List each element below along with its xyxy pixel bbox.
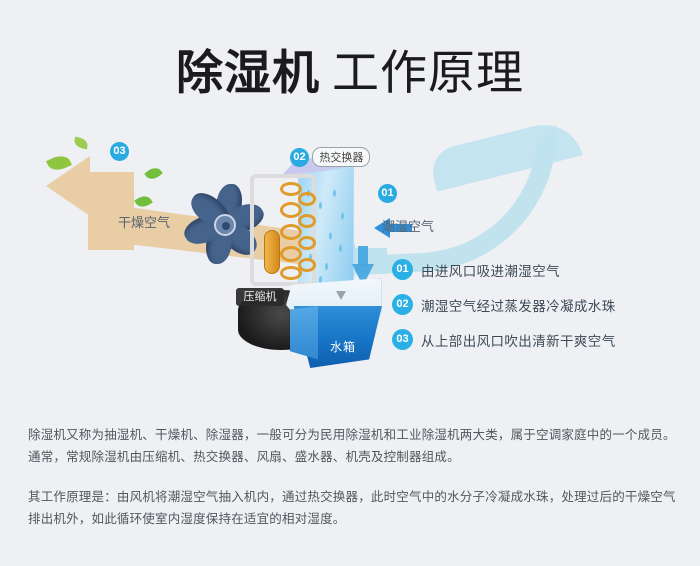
humid-air-label: 潮湿空气 <box>382 216 434 235</box>
heat-exchanger-callout: 02 热交换器 <box>290 147 370 167</box>
refrigerant-circuit <box>250 174 316 286</box>
page-title: 除湿机工作原理 <box>0 34 700 103</box>
title-secondary: 工作原理 <box>332 46 524 99</box>
dry-air-label: 干燥空气 <box>118 212 170 231</box>
fan-hub <box>214 214 236 236</box>
legend-text-03: 从上部出风口吹出清新干爽空气 <box>421 330 616 350</box>
legend-text-02: 潮湿空气经过蒸发器冷凝成水珠 <box>421 295 616 315</box>
description-paragraph-1: 除湿机又称为抽湿机、干燥机、除湿器，一般可分为民用除湿机和工业除湿机两大类，属于… <box>28 424 676 468</box>
leaf-icon <box>134 193 152 210</box>
compressor-label: 压缩机 <box>236 288 284 306</box>
dry-air-badge: 03 <box>110 142 129 161</box>
list-item: 01 由进风口吸进潮湿空气 <box>392 252 692 287</box>
compressor-cylinder <box>264 230 280 274</box>
water-tank-label: 水箱 <box>330 338 356 355</box>
legend-list: 01 由进风口吸进潮湿空气 02 潮湿空气经过蒸发器冷凝成水珠 03 从上部出风… <box>392 252 692 357</box>
humid-air-badge: 01 <box>378 184 397 203</box>
leaf-icon <box>144 165 163 183</box>
list-item: 02 潮湿空气经过蒸发器冷凝成水珠 <box>392 287 692 322</box>
leaf-icon <box>73 137 89 150</box>
legend-text-01: 由进风口吸进潮湿空气 <box>421 260 560 280</box>
callout-pointer <box>336 291 346 300</box>
heat-exchanger-label: 热交换器 <box>312 147 370 167</box>
infographic-page: 除湿机工作原理 <box>0 0 700 566</box>
machine-body: 压缩机 水箱 <box>246 160 376 350</box>
legend-badge-03: 03 <box>392 329 413 350</box>
title-primary: 除湿机 <box>176 46 320 99</box>
dry-air-arrow-stem <box>88 172 134 250</box>
description-paragraph-2: 其工作原理是：由风机将潮湿空气抽入机内，通过热交换器，此时空气中的水分子冷凝成水… <box>28 486 676 530</box>
heat-exchanger-badge: 02 <box>290 148 309 167</box>
legend-badge-02: 02 <box>392 294 413 315</box>
list-item: 03 从上部出风口吹出清新干爽空气 <box>392 322 692 357</box>
water-tank-front <box>290 306 318 364</box>
legend-badge-01: 01 <box>392 259 413 280</box>
